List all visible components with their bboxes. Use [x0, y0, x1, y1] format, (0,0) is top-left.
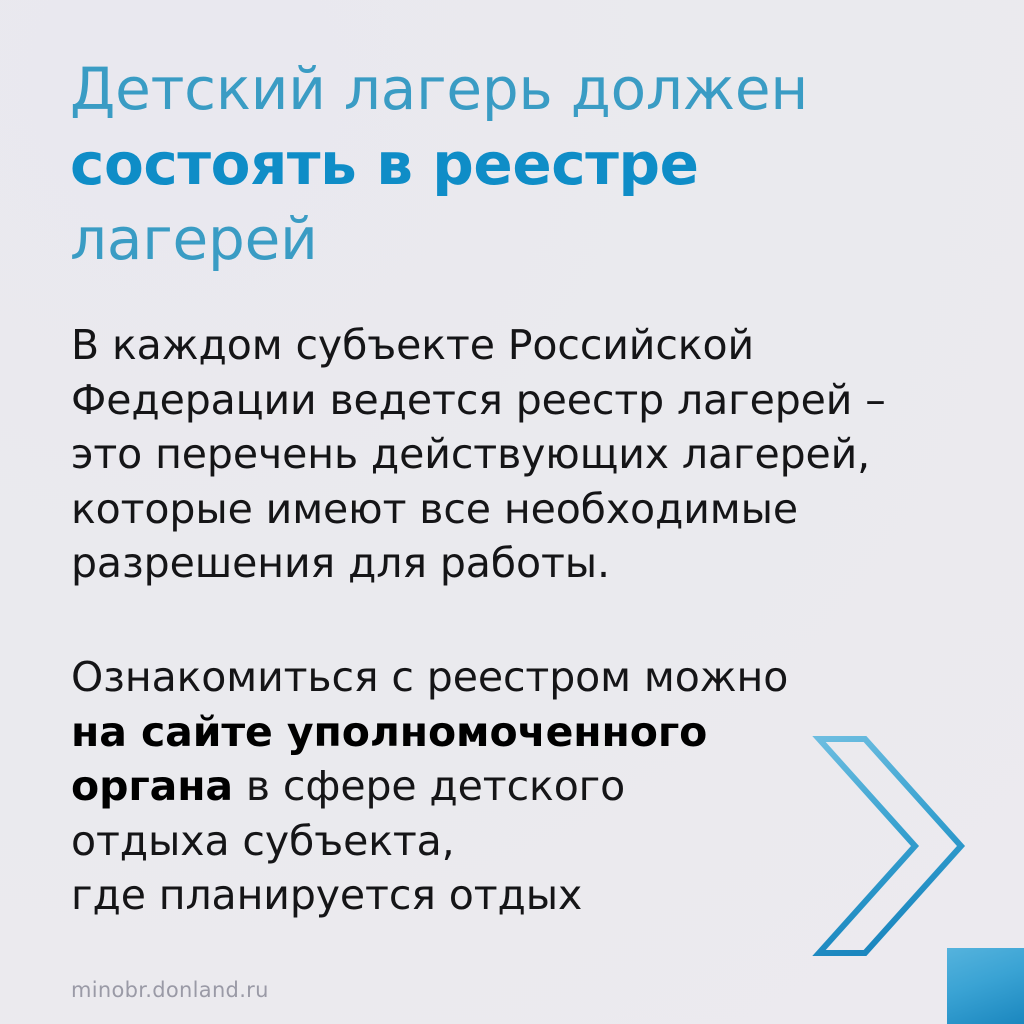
- page-title-line-1: Детский лагерь должен: [70, 52, 950, 127]
- paragraph-two-emphasis-b: органа: [71, 762, 233, 810]
- page-title: Детский лагерь должен состоять в реестре…: [70, 52, 950, 277]
- paragraph-two-line-3-rest: в сфере детского: [233, 762, 625, 810]
- paragraph-two-line-2: на сайте уполномоченного: [71, 705, 971, 760]
- paragraph-one-line-4: которые имеют все необходимые: [71, 482, 971, 537]
- paragraph-two-emphasis-a: на сайте уполномоченного: [71, 708, 707, 756]
- footer-source-url: minobr.donland.ru: [71, 977, 269, 1003]
- page-title-line-3: лагерей: [70, 202, 950, 277]
- paragraph-two-line-1: Ознакомиться с реестром можно: [71, 650, 971, 705]
- body-paragraph-two: Ознакомиться с реестром можно на сайте у…: [71, 650, 971, 923]
- paragraph-two-line-3: органа в сфере детского: [71, 759, 971, 814]
- paragraph-two-line-4: отдыха субъекта,: [71, 814, 971, 869]
- paragraph-one-line-1: В каждом субъекте Российской: [71, 318, 971, 373]
- body-paragraph-one: В каждом субъекте Российской Федерации в…: [71, 318, 971, 591]
- slide-canvas: Детский лагерь должен состоять в реестре…: [0, 0, 1024, 1024]
- paragraph-one-line-2: Федерации ведется реестр лагерей –: [71, 373, 971, 428]
- paragraph-two-line-5: где планируется отдых: [71, 868, 971, 923]
- page-title-line-2: состоять в реестре: [70, 127, 950, 202]
- corner-accent-block: [947, 948, 1024, 1024]
- paragraph-one-line-3: это перечень действующих лагерей,: [71, 427, 971, 482]
- paragraph-one-line-5: разрешения для работы.: [71, 536, 971, 591]
